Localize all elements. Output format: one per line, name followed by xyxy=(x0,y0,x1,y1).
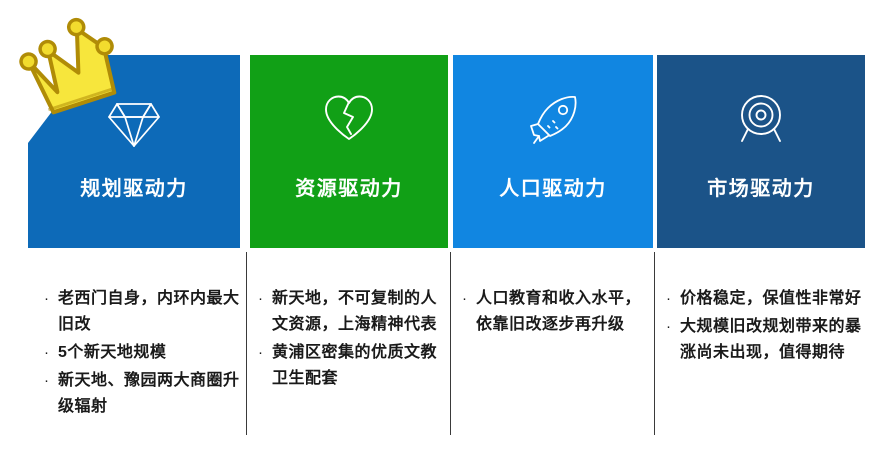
list-item: · 人口教育和收入水平，依靠旧改逐步再升级 xyxy=(462,286,652,338)
bullet-marker: · xyxy=(44,340,58,366)
column-divider xyxy=(654,252,655,435)
column-divider xyxy=(246,252,247,435)
bullet-text: 黄浦区密集的优质文教卫生配套 xyxy=(272,340,448,392)
list-item: · 新天地、豫园两大商圈升级辐射 xyxy=(44,368,240,420)
bullet-marker: · xyxy=(44,286,58,312)
card-title: 规划驱动力 xyxy=(28,179,240,199)
list-item: · 大规模旧改规划带来的暴涨尚未出现，值得期待 xyxy=(666,314,864,366)
list-item: · 老西门自身，内环内最大旧改 xyxy=(44,286,240,338)
bullet-marker: · xyxy=(666,314,680,340)
card-title: 市场驱动力 xyxy=(657,179,865,199)
bullet-column-population: · 人口教育和收入水平，依靠旧改逐步再升级 xyxy=(462,286,652,340)
driver-card-resources[interactable]: 资源驱动力 xyxy=(250,55,448,248)
bullet-marker: · xyxy=(666,286,680,312)
bullet-text: 大规模旧改规划带来的暴涨尚未出现，值得期待 xyxy=(680,314,864,366)
bullet-text: 人口教育和收入水平，依靠旧改逐步再升级 xyxy=(476,286,652,338)
driver-card-market[interactable]: 市场驱动力 xyxy=(657,55,865,248)
bullet-text: 5个新天地规模 xyxy=(58,340,240,366)
bullet-marker: · xyxy=(462,286,476,312)
bullet-column-market: · 价格稳定，保值性非常好 · 大规模旧改规划带来的暴涨尚未出现，值得期待 xyxy=(666,286,864,368)
bullet-text: 新天地，不可复制的人文资源，上海精神代表 xyxy=(272,286,448,338)
card-background xyxy=(250,55,448,248)
driver-card-planning[interactable]: 规划驱动力 xyxy=(28,55,240,248)
bullet-marker: · xyxy=(258,340,272,366)
card-background xyxy=(28,55,240,248)
card-background xyxy=(453,55,653,248)
card-title: 人口驱动力 xyxy=(453,179,653,199)
list-item: · 5个新天地规模 xyxy=(44,340,240,366)
bullet-text: 价格稳定，保值性非常好 xyxy=(680,286,864,312)
driver-overview-diagram: 规划驱动力 资源驱动力 xyxy=(0,0,892,450)
card-title: 资源驱动力 xyxy=(250,179,448,199)
bullet-marker: · xyxy=(44,368,58,394)
driver-card-population[interactable]: 人口驱动力 xyxy=(453,55,653,248)
bullet-text: 新天地、豫园两大商圈升级辐射 xyxy=(58,368,240,420)
card-background xyxy=(657,55,865,248)
list-item: · 黄浦区密集的优质文教卫生配套 xyxy=(258,340,448,392)
list-item: · 价格稳定，保值性非常好 xyxy=(666,286,864,312)
bullet-marker: · xyxy=(258,286,272,312)
list-item: · 新天地，不可复制的人文资源，上海精神代表 xyxy=(258,286,448,338)
bullet-text: 老西门自身，内环内最大旧改 xyxy=(58,286,240,338)
bullet-column-planning: · 老西门自身，内环内最大旧改 · 5个新天地规模 · 新天地、豫园两大商圈升级… xyxy=(44,286,240,422)
bullet-column-resources: · 新天地，不可复制的人文资源，上海精神代表 · 黄浦区密集的优质文教卫生配套 xyxy=(258,286,448,394)
column-divider xyxy=(450,252,451,435)
